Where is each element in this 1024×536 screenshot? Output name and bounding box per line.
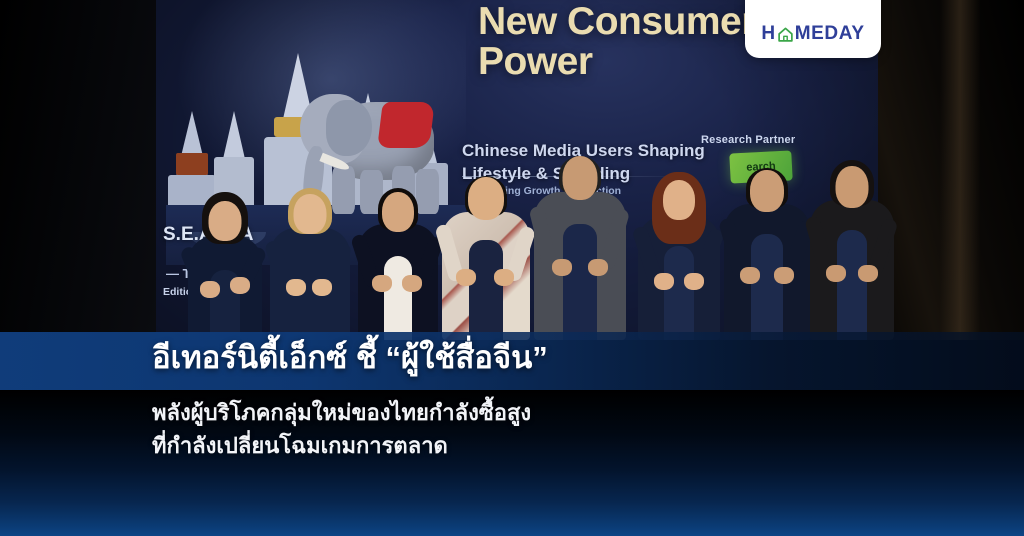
person-1-woman-dark-blazer: [186, 192, 264, 340]
person-hand: [312, 279, 332, 296]
person-head: [663, 180, 695, 220]
person-head: [836, 166, 869, 208]
person-hand: [858, 265, 878, 282]
person-shirt: [563, 224, 597, 340]
person-hand: [200, 281, 220, 298]
person-hand: [552, 259, 572, 276]
person-hand: [494, 269, 514, 286]
homeday-logo-badge[interactable]: H MEDAY: [745, 0, 881, 58]
subheadline-line-2: ที่กำลังเปลี่ยนโฉมเกมการตลาด: [152, 429, 952, 462]
person-hand: [588, 259, 608, 276]
homeday-wordmark: H MEDAY: [761, 23, 864, 45]
person-hand: [286, 279, 306, 296]
logo-text-suffix: MEDAY: [795, 23, 865, 45]
person-hand: [402, 275, 422, 292]
person-head: [209, 201, 242, 241]
person-head: [294, 194, 327, 234]
subheadline-line-1: พลังผู้บริโภคกลุ่มใหม่ของไทยกำลังซื้อสูง: [152, 396, 952, 429]
person-2-woman-blonde-tee: [268, 184, 352, 340]
person-4-man-patterned-shirt: [440, 168, 532, 340]
logo-text-prefix: H: [761, 23, 775, 45]
person-6-woman-red-hair: [636, 172, 722, 340]
person-shirt: [664, 246, 694, 340]
person-hand: [774, 267, 794, 284]
person-hand: [372, 275, 392, 292]
screenshot-root: New Consumer Power Chinese Media Users S…: [0, 0, 1024, 536]
person-head: [468, 177, 504, 220]
person-shirt: [837, 230, 867, 340]
person-hand: [654, 273, 674, 290]
person-hand: [740, 267, 760, 284]
person-head: [563, 156, 598, 200]
person-hand: [684, 273, 704, 290]
house-icon: [777, 26, 794, 43]
person-5-man-grey-blazer: [532, 144, 628, 340]
person-7-man-navy-blazer: [722, 158, 812, 340]
person-3-man-dark-suit: [356, 180, 440, 340]
person-head: [382, 192, 414, 232]
person-shirt: [751, 234, 783, 340]
person-8-man-black-blazer: [808, 154, 896, 340]
person-shirt: [384, 256, 412, 340]
person-hand: [826, 265, 846, 282]
person-shirt: [469, 240, 503, 340]
subheadline-text: พลังผู้บริโภคกลุ่มใหม่ของไทยกำลังซื้อสูง…: [152, 396, 952, 463]
person-head: [750, 170, 784, 212]
person-hand: [230, 277, 250, 294]
headline-text: อีเทอร์นิตี้เอ็กซ์ ชี้ “ผู้ใช้สื่อจีน”: [152, 336, 972, 381]
person-hand: [456, 269, 476, 286]
